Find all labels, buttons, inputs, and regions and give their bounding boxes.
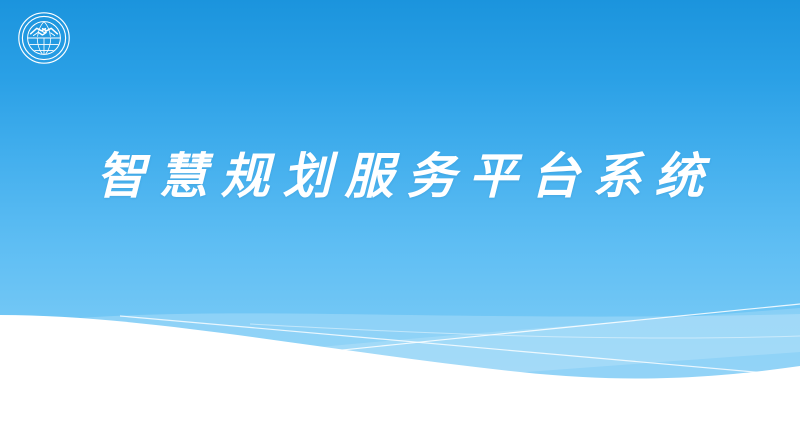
splash-screen: 智慧规划服务平台系统 — [0, 0, 800, 430]
globe-handshake-emblem-icon — [17, 11, 71, 65]
wave-svg — [0, 290, 800, 430]
wave-decoration — [0, 290, 800, 430]
page-title: 智慧规划服务平台系统 — [83, 148, 716, 206]
title-block: 智慧规划服务平台系统 — [0, 148, 800, 206]
emblem-svg — [17, 11, 71, 65]
